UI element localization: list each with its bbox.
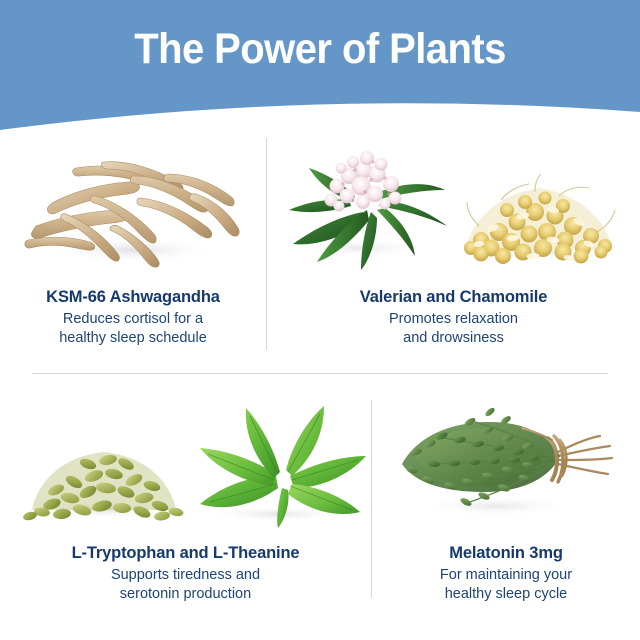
card-title-melatonin: Melatonin 3mg xyxy=(372,543,640,563)
card-desc-line2: and drowsiness xyxy=(267,329,640,348)
card-desc-line1: Promotes relaxation xyxy=(267,310,640,329)
card-desc-line1: For maintaining your xyxy=(372,566,640,585)
card-desc-line2: healthy sleep schedule xyxy=(0,329,266,348)
card-text-ashwagandha: KSM-66 Ashwagandha Reduces cortisol for … xyxy=(0,287,266,348)
card-title-ashwagandha: KSM-66 Ashwagandha xyxy=(0,287,266,307)
card-text-tryptophan: L-Tryptophan and L-Theanine Supports tir… xyxy=(0,543,371,604)
ashwagandha-roots-image xyxy=(0,140,266,275)
card-title-tryptophan: L-Tryptophan and L-Theanine xyxy=(0,543,371,563)
cards-grid: KSM-66 Ashwagandha Reduces cortisol for … xyxy=(0,132,640,640)
card-melatonin: Melatonin 3mg For maintaining your healt… xyxy=(372,380,640,604)
card-text-valerian: Valerian and Chamomile Promotes relaxati… xyxy=(267,287,640,348)
card-tryptophan: L-Tryptophan and L-Theanine Supports tir… xyxy=(0,380,371,604)
pumpkin-seeds-green-tea-image xyxy=(0,394,371,529)
card-ashwagandha: KSM-66 Ashwagandha Reduces cortisol for … xyxy=(0,132,266,348)
card-desc-line1: Reduces cortisol for a xyxy=(0,310,266,329)
card-title-valerian: Valerian and Chamomile xyxy=(267,287,640,307)
header-banner: The Power of Plants xyxy=(0,0,640,132)
card-desc-line2: serotonin production xyxy=(0,585,371,604)
card-desc-line2: healthy sleep cycle xyxy=(372,585,640,604)
page-title: The Power of Plants xyxy=(22,24,617,74)
card-desc-line1: Supports tiredness and xyxy=(0,566,371,585)
card-valerian: Valerian and Chamomile Promotes relaxati… xyxy=(267,132,640,348)
card-desc-ashwagandha: Reduces cortisol for a healthy sleep sch… xyxy=(0,310,266,348)
card-desc-tryptophan: Supports tiredness and serotonin product… xyxy=(0,566,371,604)
thyme-bundle-image xyxy=(372,394,640,529)
valerian-chamomile-image xyxy=(267,140,640,275)
card-desc-valerian: Promotes relaxation and drowsiness xyxy=(267,310,640,348)
card-desc-melatonin: For maintaining your healthy sleep cycle xyxy=(372,566,640,604)
card-text-melatonin: Melatonin 3mg For maintaining your healt… xyxy=(372,543,640,604)
